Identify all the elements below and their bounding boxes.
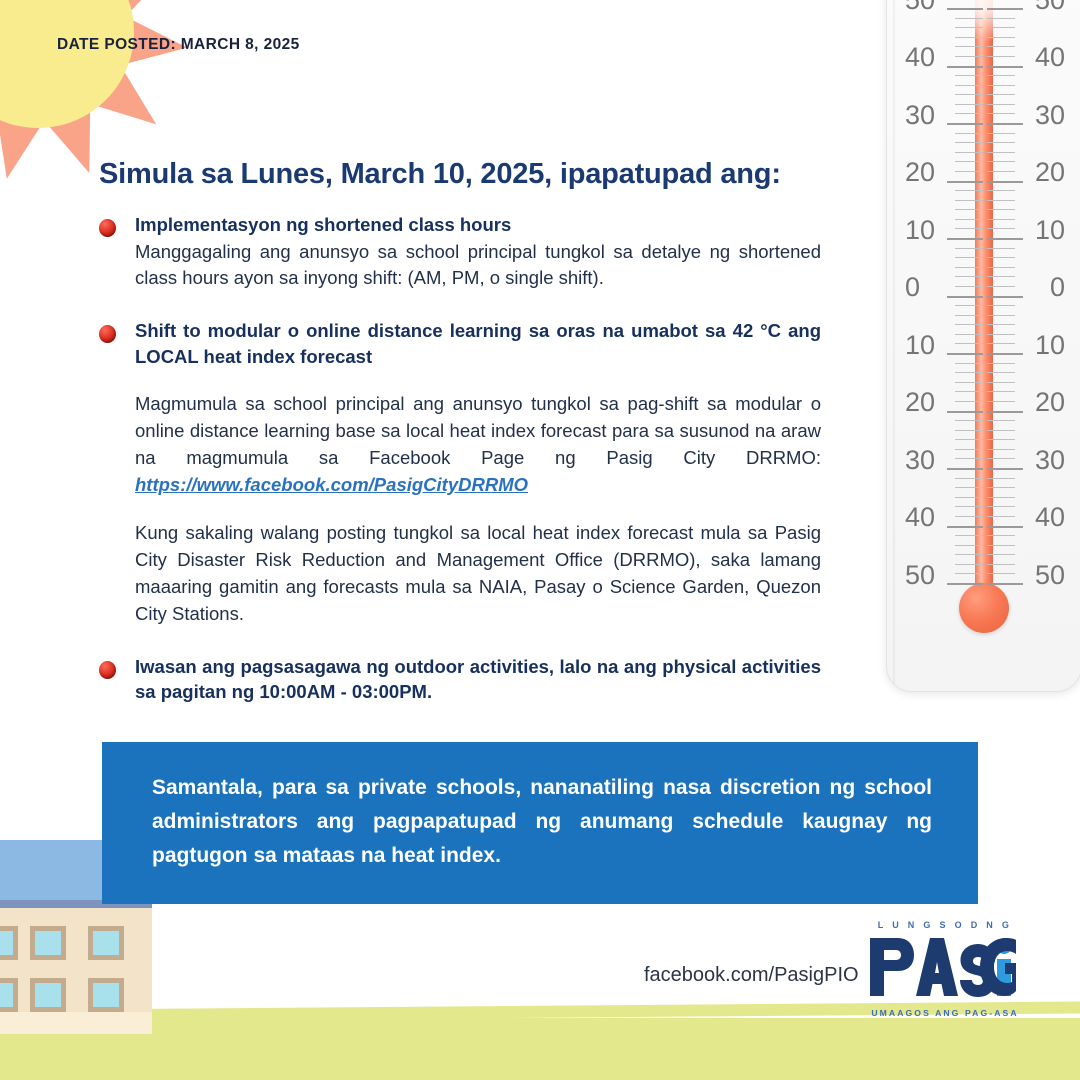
list-item-body-text: Magmumula sa school principal ang anunsy… [135,393,821,468]
drrmo-facebook-link[interactable]: https://www.facebook.com/PasigCityDRRMO [135,474,528,495]
notice-callout-text: Samantala, para sa private schools, nana… [152,771,932,873]
bullet-dot-icon [99,325,116,343]
pasig-wordmark-icon [868,936,1022,998]
list-item-title: Implementasyon ng shortened class hours [135,212,821,238]
list-item: Iwasan ang pagsasagawa ng outdoor activi… [99,654,821,705]
list-item-body: Magmumula sa school principal ang anunsy… [135,391,821,498]
list-item: Implementasyon ng shortened class hours … [99,212,821,292]
bullet-dot-icon [99,219,116,237]
notice-callout-box: Samantala, para sa private schools, nana… [102,742,978,904]
date-posted-label: DATE POSTED: MARCH 8, 2025 [57,36,300,54]
logo-top-text: L U N G S O D N G [862,920,1028,930]
list-item-body: Manggagaling ang anunsyo sa school princ… [135,239,821,293]
pasig-city-logo: L U N G S O D N G UMAAGOS ANG PAG-ASA [862,920,1028,1018]
announcement-list: Implementasyon ng shortened class hours … [99,212,821,705]
list-item-title: Iwasan ang pagsasagawa ng outdoor activi… [135,654,821,705]
list-item-body-secondary: Kung sakaling walang posting tungkol sa … [135,520,821,627]
footer: facebook.com/PasigPIO L U N G S O D N G … [0,904,1080,1034]
list-item: Shift to modular o online distance learn… [99,318,821,628]
page-title: Simula sa Lunes, March 10, 2025, ipapatu… [99,158,839,191]
list-item-title: Shift to modular o online distance learn… [135,318,821,369]
bullet-dot-icon [99,661,116,679]
facebook-handle[interactable]: facebook.com/PasigPIO [644,964,859,987]
logo-tagline: UMAAGOS ANG PAG-ASA [862,1008,1028,1018]
